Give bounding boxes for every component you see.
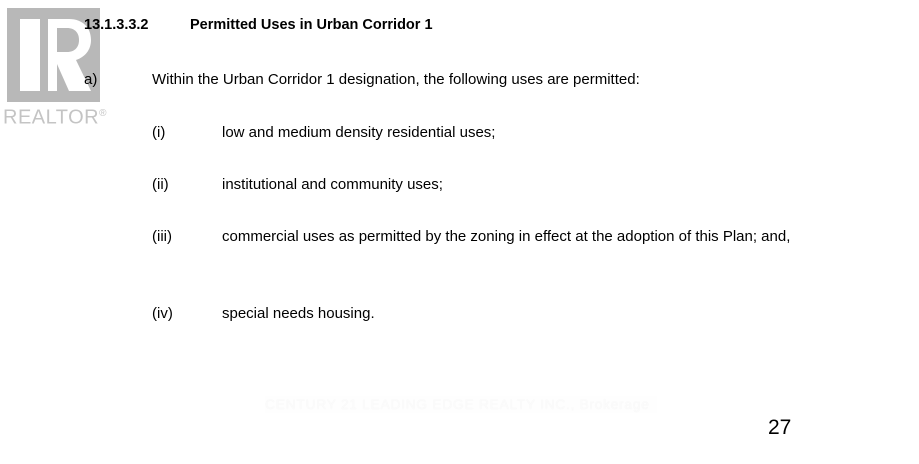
clause-a: a)Within the Urban Corridor 1 designatio… — [84, 69, 640, 90]
list-item-marker: (iv) — [152, 301, 222, 327]
clause-a-text: Within the Urban Corridor 1 designation,… — [152, 71, 640, 88]
list-item-text: commercial uses as permitted by the zoni… — [222, 224, 804, 250]
list-item: (ii) institutional and community uses; — [152, 172, 804, 198]
list-item-text: special needs housing. — [222, 301, 804, 327]
list-item-marker: (ii) — [152, 172, 222, 198]
section-title: Permitted Uses in Urban Corridor 1 — [190, 16, 433, 34]
section-number: 13.1.3.3.2 — [84, 16, 190, 34]
list-item-marker: (iii) — [152, 224, 222, 250]
document-content: 13.1.3.3.2Permitted Uses in Urban Corrid… — [0, 0, 919, 464]
clause-a-marker: a) — [84, 69, 152, 90]
document-page: REALTOR® 13.1.3.3.2Permitted Uses in Urb… — [0, 0, 919, 464]
brokerage-watermark: CENTURY 21 LEADING EDGE REALTY INC., Bro… — [265, 396, 657, 413]
list-item-text: low and medium density residential uses; — [222, 120, 804, 146]
section-heading: 13.1.3.3.2Permitted Uses in Urban Corrid… — [84, 16, 433, 34]
list-item-text: institutional and community uses; — [222, 172, 804, 198]
page-number: 27 — [768, 415, 791, 441]
list-item: (iv) special needs housing. — [152, 301, 804, 327]
list-item: (iii) commercial uses as permitted by th… — [152, 224, 804, 250]
list-item-marker: (i) — [152, 120, 222, 146]
list-item: (i) low and medium density residential u… — [152, 120, 804, 146]
